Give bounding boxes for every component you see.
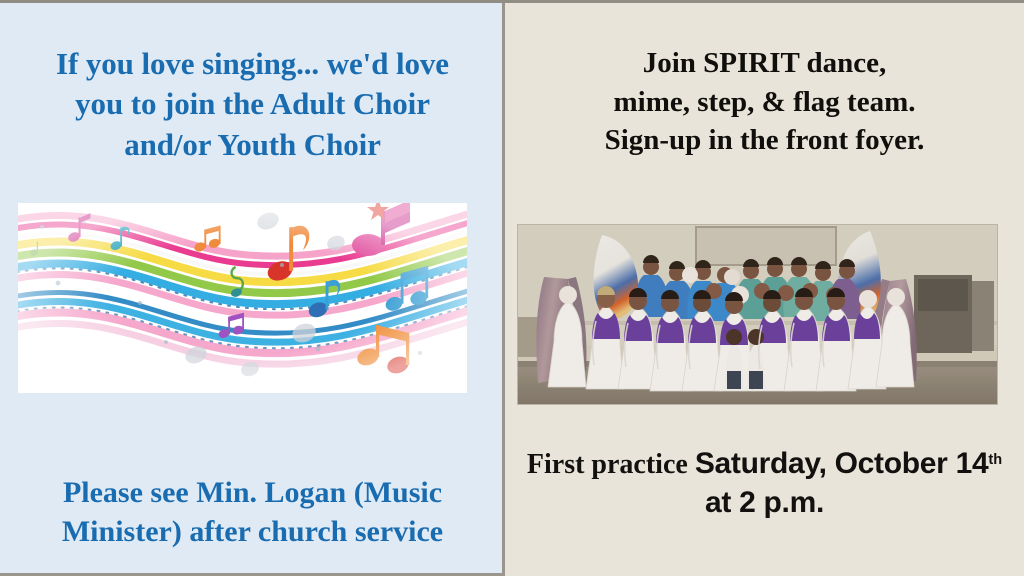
choir-heading-line-3: and/or Youth Choir [16,125,489,165]
choir-panel: If you love singing... we'd love you to … [0,0,505,576]
first-practice-ordinal: th [988,452,1002,468]
spirit-heading-line-3: Sign-up in the front foyer. [515,121,1014,160]
spirit-dance-team-group-photo [517,224,998,405]
choir-heading: If you love singing... we'd love you to … [16,44,489,165]
spirit-first-practice-note: First practice Saturday, October 14th at… [515,444,1014,523]
top-divider-rule [0,0,1024,3]
first-practice-time: at 2 p.m. [705,486,824,519]
spirit-heading-line-1: Join SPIRIT dance, [515,44,1014,83]
music-notes-rainbow-wave-graphic [18,203,467,393]
choir-footer-note: Please see Min. Logan (Music Minister) a… [16,473,489,551]
choir-footer-line-1: Please see Min. Logan (Music [16,473,489,512]
first-practice-prefix: First practice [527,449,695,480]
choir-heading-line-2: you to join the Adult Choir [16,84,489,124]
choir-footer-line-2: Minister) after church service [16,512,489,551]
choir-heading-line-1: If you love singing... we'd love [16,44,489,84]
first-practice-date: Saturday, October 14 [695,447,989,480]
announcement-slide: If you love singing... we'd love you to … [0,0,1024,576]
spirit-team-panel: Join SPIRIT dance, mime, step, & flag te… [505,0,1024,576]
spirit-heading: Join SPIRIT dance, mime, step, & flag te… [515,44,1014,160]
spirit-heading-line-2: mime, step, & flag team. [515,83,1014,122]
